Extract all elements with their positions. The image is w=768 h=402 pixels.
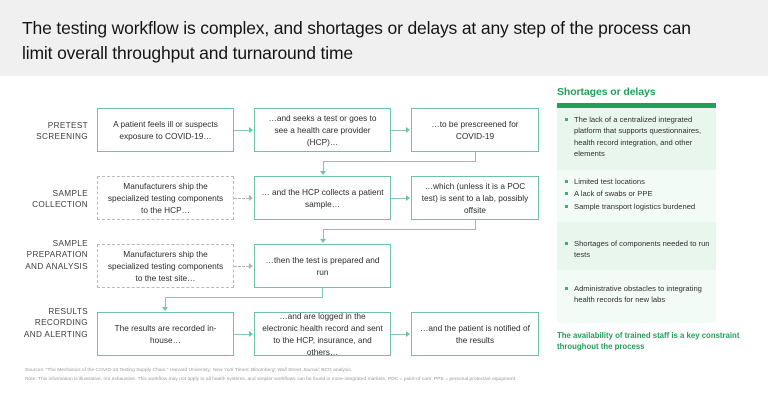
node-r1-c1[interactable]: A patient feels ill or suspects exposure…: [97, 108, 234, 152]
row-label-line: AND ALERTING: [14, 329, 88, 340]
sources-italic-2: Bloomberg: [251, 368, 275, 373]
sources-sep-1: ;: [248, 368, 249, 373]
node-r4-c2[interactable]: …and are logged in the electronic health…: [254, 312, 391, 356]
row-label-line: PREPARATION: [14, 249, 88, 260]
row-label-sample-collection: SAMPLE COLLECTION: [14, 188, 88, 211]
connector-r3-c1-c2: [234, 266, 249, 267]
connector-r3-wrap-into-r4: [165, 297, 166, 307]
sources-label: Sources:: [25, 368, 44, 373]
connector-r1-wrap-left: [323, 161, 476, 162]
sources-line: Sources: "The Mechanics of the COVID-19 …: [25, 366, 765, 375]
panel-band-4: Administrative obstacles to integrating …: [557, 270, 716, 323]
arrow-r1-c2-c3-icon: [406, 127, 410, 133]
connector-r1-wrap-into-r2: [323, 161, 324, 171]
node-r3-c1[interactable]: Manufacturers ship the specialized testi…: [97, 244, 234, 288]
panel-bullet: A lack of swabs or PPE: [565, 188, 710, 200]
node-r1-c2[interactable]: …and seeks a test or goes to see a healt…: [254, 108, 391, 152]
connector-r1-c1-c2: [234, 130, 249, 131]
arrow-r4-c1-c2-icon: [249, 331, 253, 337]
connector-r3-wrap-left: [165, 297, 323, 298]
sources-tail: ; BCG analysis.: [319, 368, 353, 373]
panel-title: Shortages or delays: [557, 86, 753, 98]
sources-sep-2: ;: [275, 368, 276, 373]
connector-r2-c1-c2: [234, 198, 249, 199]
panel-band-2: Limited test locations A lack of swabs o…: [557, 170, 716, 222]
footnotes: Sources: "The Mechanics of the COVID-19 …: [25, 366, 765, 384]
node-r2-c1[interactable]: Manufacturers ship the specialized testi…: [97, 176, 234, 220]
panel-footnote: The availability of trained staff is a k…: [557, 330, 743, 353]
arrow-r4-c2-c3-icon: [406, 331, 410, 337]
panel-bullet: The lack of a centralized integrated pla…: [565, 114, 710, 160]
panel-bullet: Limited test locations: [565, 176, 710, 188]
node-r4-c1[interactable]: The results are recorded in-house…: [97, 312, 234, 356]
connector-r1-wrap-down: [475, 152, 476, 161]
panel-bullet: Administrative obstacles to integrating …: [565, 283, 710, 306]
connector-r1-c2-c3: [391, 130, 406, 131]
arrow-r1-c1-c2-icon: [249, 127, 253, 133]
row-label-results-recording: RESULTS RECORDING AND ALERTING: [14, 306, 88, 340]
node-r4-c3[interactable]: …and the patient is notified of the resu…: [411, 312, 539, 356]
row-label-sample-preparation: SAMPLE PREPARATION AND ANALYSIS: [14, 238, 88, 272]
note-line: Note: This information is illustrative, …: [25, 375, 765, 384]
node-r2-c3[interactable]: …which (unless it is a POC test) is sent…: [411, 176, 539, 220]
arrow-r2-to-r3-icon: [320, 239, 326, 243]
sources-italic-1: New York Times: [213, 368, 248, 373]
arrow-r1-to-r2-icon: [320, 171, 326, 175]
slide: The testing workflow is complex, and sho…: [0, 0, 768, 402]
panel-band-1: The lack of a centralized integrated pla…: [557, 108, 716, 170]
row-label-line: AND ANALYSIS: [14, 261, 88, 272]
panel-band-3: Shortages of components needed to run te…: [557, 222, 716, 270]
panel-bullet: Sample transport logistics burdened: [565, 201, 710, 213]
node-r2-c2[interactable]: … and the HCP collects a patient sample…: [254, 176, 391, 220]
arrow-r3-to-r4-icon: [162, 307, 168, 311]
row-label-line: SAMPLE: [14, 188, 88, 199]
page-title: The testing workflow is complex, and sho…: [22, 16, 722, 66]
shortages-panel: Shortages or delays The lack of a centra…: [557, 86, 753, 353]
row-label-line: SCREENING: [14, 131, 88, 142]
connector-r4-c1-c2: [234, 334, 249, 335]
row-label-line: SAMPLE: [14, 238, 88, 249]
arrow-r2-c1-c2-icon: [249, 195, 253, 201]
panel-bullet: Shortages of components needed to run te…: [565, 238, 710, 261]
header-band: The testing workflow is complex, and sho…: [0, 0, 768, 76]
row-label-line: COLLECTION: [14, 199, 88, 210]
arrow-r3-c1-c2-icon: [249, 263, 253, 269]
connector-r3-wrap-down: [322, 288, 323, 297]
connector-r2-wrap-left: [323, 229, 476, 230]
connector-r4-c2-c3: [391, 334, 406, 335]
row-label-line: PRETEST: [14, 120, 88, 131]
connector-r2-wrap-down: [475, 220, 476, 229]
arrow-r2-c2-c3-icon: [406, 195, 410, 201]
node-r1-c3[interactable]: …to be prescreened for COVID-19: [411, 108, 539, 152]
connector-r2-wrap-into-r3: [323, 229, 324, 239]
sources-italic-3: Wall Street Journal: [277, 368, 318, 373]
row-label-line: RESULTS: [14, 306, 88, 317]
row-label-pretest-screening: PRETEST SCREENING: [14, 120, 88, 143]
row-label-line: RECORDING: [14, 317, 88, 328]
workflow-diagram: PRETEST SCREENING A patient feels ill or…: [0, 76, 552, 361]
node-r3-c2[interactable]: …then the test is prepared and run: [254, 244, 391, 288]
connector-r2-c2-c3: [391, 198, 406, 199]
sources-text: "The Mechanics of the COVID-19 Testing S…: [46, 368, 212, 373]
